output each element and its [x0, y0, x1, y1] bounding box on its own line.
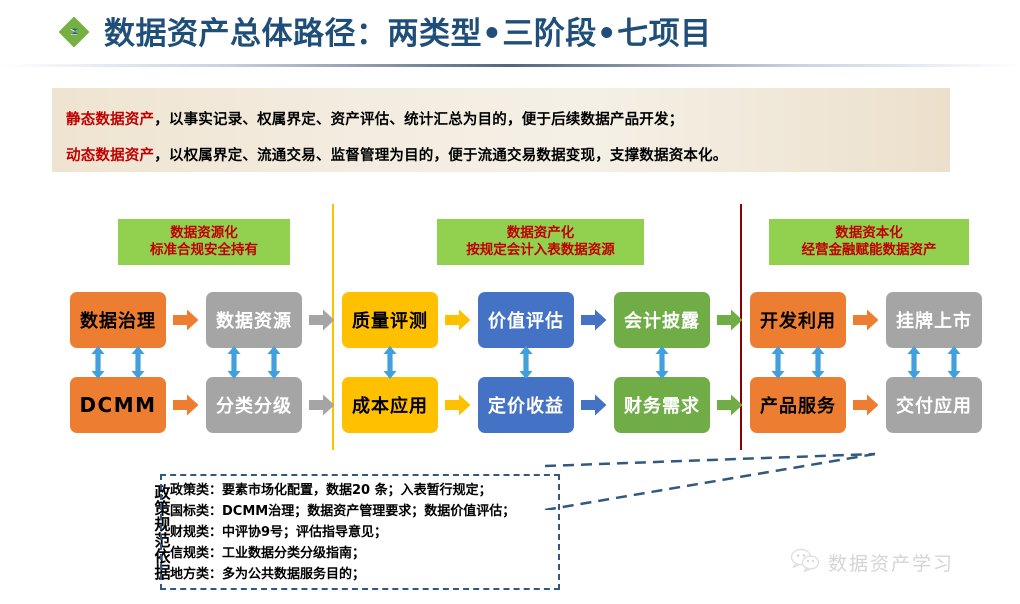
slide-canvas: 数据资产总体路径：两类型•三阶段•七项目 静态数据资产，以事实记录、权属界定、资…	[0, 0, 1020, 604]
phase-header-3: 数据资本化 经营金融赋能数据资产	[769, 219, 969, 265]
vertical-double-arrow-1-2	[130, 346, 146, 390]
banner-line2-highlight: 动态数据资产	[66, 148, 154, 164]
banner-line-static: 静态数据资产，以事实记录、权属界定、资产评估、统计汇总为目的，便于后续数据产品开…	[66, 108, 683, 129]
vertical-double-arrow-3-1	[382, 346, 398, 390]
flow-arrow-top-5	[717, 309, 743, 331]
flow-box-top-3[interactable]: 质量评测	[342, 292, 438, 348]
flow-box-bottom-1[interactable]: DCMM	[70, 377, 166, 433]
callout-pointer	[540, 440, 890, 510]
flow-box-bottom-7[interactable]: 交付应用	[886, 377, 982, 433]
flow-arrow-bottom-2	[309, 394, 335, 416]
definition-banner: 静态数据资产，以事实记录、权属界定、资产评估、统计汇总为目的，便于后续数据产品开…	[52, 88, 950, 172]
flow-box-bottom-6[interactable]: 产品服务	[750, 377, 846, 433]
vertical-double-arrow-7-2	[946, 346, 962, 390]
flow-box-bottom-2[interactable]: 分类分级	[206, 377, 302, 433]
vertical-double-arrow-7-1	[906, 346, 922, 390]
policy-basis-text: 政策类：要素市场化配置，数据20 条；入表暂行规定；国标类：DCMM治理；数据资…	[170, 480, 560, 585]
phase-header-1: 数据资源化 标准合规安全持有	[118, 219, 290, 265]
flow-arrow-top-6	[853, 309, 879, 331]
flow-arrow-bottom-5	[717, 394, 743, 416]
vertical-double-arrow-1-1	[90, 346, 106, 390]
flow-arrow-top-2	[309, 309, 335, 331]
policy-basis-line: 地方类：多为公共数据服务目的；	[170, 564, 560, 585]
vertical-double-arrow-6-2	[810, 346, 826, 390]
flow-box-top-1[interactable]: 数据治理	[70, 292, 166, 348]
phase-header-3-title: 数据资本化	[835, 225, 903, 242]
vertical-double-arrow-4-1	[518, 346, 534, 390]
vertical-double-arrow-2-2	[266, 346, 282, 390]
watermark: 数据资产学习	[790, 548, 954, 577]
phase-header-2: 数据资产化 按规定会计入表数据资源	[437, 219, 644, 265]
policy-basis-line: 国标类：DCMM治理；数据资产管理要求；数据价值评估；	[170, 501, 560, 522]
vertical-double-arrow-5-1	[654, 346, 670, 390]
slide-header: 数据资产总体路径：两类型•三阶段•七项目	[0, 0, 1020, 64]
wechat-icon	[790, 548, 820, 577]
phase-header-1-title: 数据资源化	[170, 225, 238, 242]
flow-box-top-6[interactable]: 开发利用	[750, 292, 846, 348]
policy-basis-line: 财规类：中评协9号；评估指导意见；	[170, 522, 560, 543]
policy-basis-line: 信规类：工业数据分类分级指南；	[170, 543, 560, 564]
flow-arrow-bottom-3	[445, 394, 471, 416]
vertical-double-arrow-6-1	[770, 346, 786, 390]
policy-basis-line: 政策类：要素市场化配置，数据20 条；入表暂行规定；	[170, 480, 560, 501]
flow-box-top-4[interactable]: 价值评估	[478, 292, 574, 348]
flow-box-top-5[interactable]: 会计披露	[614, 292, 710, 348]
phase-header-2-subtitle: 按规定会计入表数据资源	[466, 242, 615, 259]
header-divider-rule	[0, 64, 1020, 67]
page-title: 数据资产总体路径：两类型•三阶段•七项目	[104, 8, 712, 53]
banner-line-dynamic: 动态数据资产，以权属界定、流通交易、监督管理为目的，便于流通交易数据变现，支撑数…	[66, 144, 728, 165]
flow-arrow-bottom-1	[173, 394, 199, 416]
banner-line1-rest: ，以事实记录、权属界定、资产评估、统计汇总为目的，便于后续数据产品开发；	[154, 112, 683, 128]
phase-header-3-subtitle: 经营金融赋能数据资产	[802, 242, 937, 259]
flow-arrow-bottom-4	[581, 394, 607, 416]
flow-box-top-2[interactable]: 数据资源	[206, 292, 302, 348]
phase-header-1-subtitle: 标准合规安全持有	[150, 242, 258, 259]
flow-arrow-top-4	[581, 309, 607, 331]
phase-header-2-title: 数据资产化	[507, 225, 575, 242]
banner-line2-rest: ，以权属界定、流通交易、监督管理为目的，便于流通交易数据变现，支撑数据资本化。	[154, 148, 727, 164]
green-diamond-logo-icon	[59, 17, 89, 47]
vertical-double-arrow-2-1	[226, 346, 242, 390]
watermark-text: 数据资产学习	[828, 549, 954, 576]
flow-arrow-top-1	[173, 309, 199, 331]
flow-arrow-top-3	[445, 309, 471, 331]
banner-line1-highlight: 静态数据资产	[66, 112, 154, 128]
flow-box-top-7[interactable]: 挂牌上市	[886, 292, 982, 348]
flow-arrow-bottom-6	[853, 394, 879, 416]
